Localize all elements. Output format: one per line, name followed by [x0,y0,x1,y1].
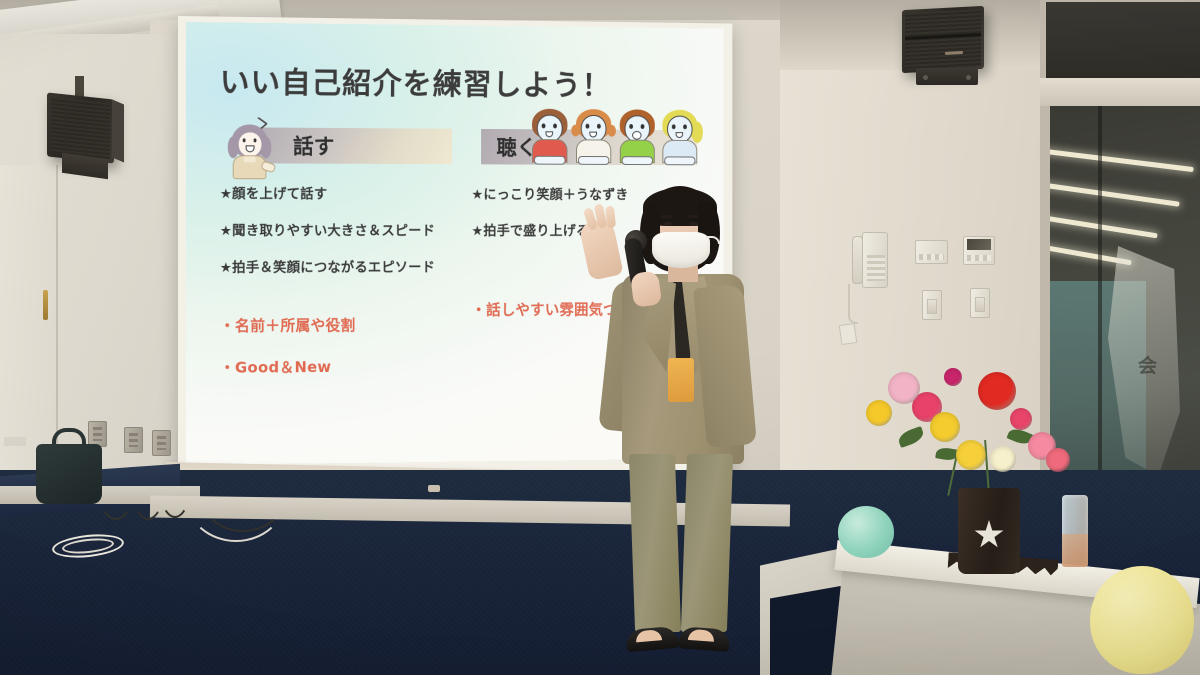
presenter-legs [632,454,736,632]
flower-bloom [978,372,1016,410]
kid-figure [659,108,701,169]
presenter-eyebrow [687,215,699,218]
wall-control-panel-b[interactable] [963,236,995,265]
mint-balloon [838,506,894,558]
screen-pull-handle[interactable] [428,485,440,492]
girl-collar [244,156,256,162]
frosted-glass-text: 会 [1138,356,1157,378]
door-handle-icon[interactable] [43,290,48,320]
ceiling-strip-light [1050,215,1158,239]
phone-keypad[interactable] [867,255,885,281]
phone-cord [848,284,858,324]
wall-speaker-left [47,92,114,163]
glass-sill [1040,78,1200,106]
presenter-finger [605,206,616,229]
kid-eye [640,124,644,129]
presenter-eye [663,222,672,226]
column-speaking: 話す ★顔を上げて話す ★聞き取りやすい大きさ＆スピード ★拍手＆笑顔につながる… [220,124,452,398]
shoe-opening [635,629,662,642]
spacer [220,292,452,315]
star-icon [974,520,1004,550]
glass-mullion [1098,106,1102,506]
yellow-balloon [1090,566,1194,674]
control-panel-display [967,239,991,250]
wall-speaker-right [902,6,984,73]
control-panel-buttons[interactable] [967,255,991,261]
kid-mouth-open [632,131,641,140]
listening-kids-icon [528,105,701,169]
flower-bloom [1046,448,1070,472]
kid-figure [528,107,571,168]
control-panel-buttons[interactable] [919,254,944,260]
presenter-leg-right [681,454,733,632]
kid-mouth [589,132,597,138]
header-label-speaking: 話す [293,131,334,161]
kid-hands [665,156,696,165]
water-bottle[interactable] [1062,495,1088,567]
speaker-grille [905,9,981,70]
kid-figure [572,107,615,168]
kid-figure [616,107,658,168]
kid-hands [578,156,609,165]
kid-hands [621,156,652,165]
kid-eye [629,124,633,129]
black-tote-bag[interactable] [36,444,102,504]
glass-window: 会 [1050,106,1200,506]
bullet-item: ★聞き取りやすい大きさ＆スピード [220,219,452,239]
glass-transom [1046,2,1200,78]
flower-bloom [1010,408,1032,430]
door-sign [4,437,26,446]
girl-hair-right [260,136,271,158]
kid-ponytail [607,125,616,137]
flower-vase [958,488,1020,574]
column-header-listening: 聴く [471,126,697,168]
shoe-opening [688,629,715,642]
kid-eye [542,123,546,128]
light-switch-a[interactable] [922,290,942,320]
flower-bloom [930,412,960,442]
girl-face [239,132,262,156]
kid-hands [534,156,566,165]
room-scene: 会 いい自己紹介を練習しよう！ [0,0,1200,675]
speaker-grille [51,97,110,159]
phone-note-tag [839,323,858,345]
girl-eye-right [254,138,257,142]
kid-face [667,116,692,143]
kid-face [581,115,607,143]
speaker-right-bracket [916,68,978,85]
bullet-item: ★顔を上げて話す [220,182,452,203]
bullet-item-red: ・Good＆New [220,355,452,377]
flower-bloom [866,400,892,426]
flower-bloom [990,446,1016,472]
header-bar [254,127,453,164]
flower-bloom [956,440,986,470]
kid-ponytail [571,125,580,137]
face-mask-icon [652,232,710,268]
ceiling-strip-light [1050,149,1194,172]
flower-bloom [888,372,920,404]
bullet-item: ★拍手＆笑顔につながるエピソード [220,256,452,276]
wall-control-panel-a[interactable] [915,240,948,264]
bullet-item-red: ・名前＋所属や役割 [220,314,452,336]
kid-eye [597,124,601,129]
bullet-list-speaking: ★顔を上げて話す ★聞き取りやすい大きさ＆スピード ★拍手＆笑顔につながるエピソ… [220,182,452,378]
speaking-girl-icon [224,118,275,180]
girl-hair-left [228,136,239,158]
slide-title: いい自己紹介を練習しよう！ [220,68,698,102]
kid-eye [585,124,589,129]
column-header-speaking: 話す [220,124,452,167]
power-cable [200,458,286,532]
kid-hair-long [692,122,703,143]
presenter-eye [689,222,698,226]
presenter [570,186,760,675]
speaker-side-panel [112,99,124,162]
kid-eye [553,124,557,129]
girl-eye-left [243,138,246,142]
flower-bloom [944,368,962,386]
presenter-eyebrow [661,215,673,218]
wall-phone[interactable] [862,232,888,288]
presenter-leg-left [629,454,681,632]
presenter-badge [668,358,694,402]
light-switch-b[interactable] [970,288,990,318]
ceiling-strip-light [1050,182,1180,206]
kid-face [537,115,563,143]
